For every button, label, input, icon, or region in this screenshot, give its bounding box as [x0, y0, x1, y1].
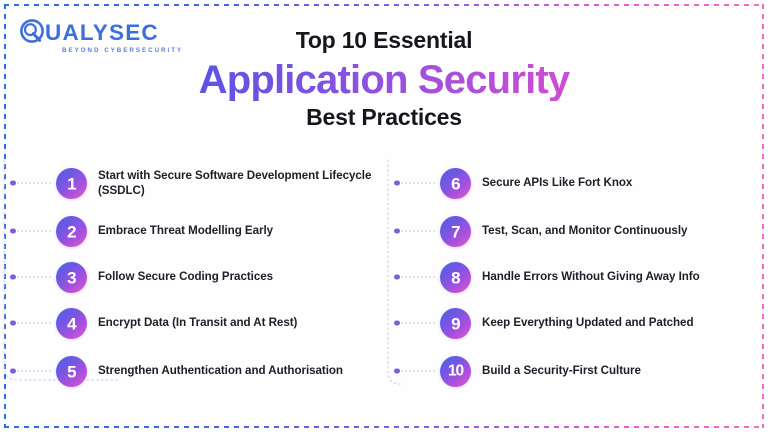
timeline-connector — [17, 323, 53, 324]
timeline-dot — [394, 274, 400, 280]
timeline-node — [394, 320, 436, 327]
step-number: 9 — [451, 315, 460, 332]
timeline-dot — [394, 368, 400, 374]
practices-list-left: 1 Start with Secure Software Development… — [56, 158, 376, 396]
step-number: 8 — [451, 269, 460, 286]
title-eyebrow: Top 10 Essential — [0, 27, 768, 54]
step-badge: 1 — [56, 168, 87, 199]
step-badge: 4 — [56, 308, 87, 339]
timeline-connector — [401, 183, 437, 184]
step-badge: 8 — [440, 262, 471, 293]
step-badge: 9 — [440, 308, 471, 339]
infographic-poster: UALYSEC BEYOND CYBERSECURITY Top 10 Esse… — [0, 0, 768, 432]
list-item[interactable]: 3 Follow Secure Coding Practices — [56, 254, 376, 300]
timeline-node — [10, 320, 52, 327]
practices-right-column: 6 Secure APIs Like Fort Knox 7 Test, Sca… — [384, 158, 768, 396]
timeline-node — [394, 274, 436, 281]
timeline-dot — [394, 320, 400, 326]
frame-top-edge — [4, 4, 764, 6]
timeline-connector — [17, 231, 53, 232]
list-item[interactable]: 9 Keep Everything Updated and Patched — [440, 300, 760, 346]
step-number: 5 — [67, 363, 76, 380]
list-item-label: Secure APIs Like Fort Knox — [482, 175, 632, 190]
list-item-label: Encrypt Data (In Transit and At Rest) — [98, 315, 297, 330]
step-badge: 2 — [56, 216, 87, 247]
timeline-connector — [401, 371, 437, 372]
timeline-connector — [17, 277, 53, 278]
step-number: 1 — [67, 175, 76, 192]
list-item-label: Handle Errors Without Giving Away Info — [482, 269, 700, 284]
list-item-label: Start with Secure Software Development L… — [98, 168, 376, 199]
list-item[interactable]: 2 Embrace Threat Modelling Early — [56, 208, 376, 254]
timeline-dot — [10, 320, 16, 326]
timeline-node — [394, 368, 436, 375]
timeline-connector — [17, 183, 53, 184]
step-badge: 6 — [440, 168, 471, 199]
timeline-node — [10, 274, 52, 281]
list-item-label: Embrace Threat Modelling Early — [98, 223, 273, 238]
timeline-connector — [401, 323, 437, 324]
step-badge: 7 — [440, 216, 471, 247]
list-item[interactable]: 4 Encrypt Data (In Transit and At Rest) — [56, 300, 376, 346]
practices-left-column: 1 Start with Secure Software Development… — [0, 158, 384, 396]
list-item-label: Test, Scan, and Monitor Continuously — [482, 223, 687, 238]
list-item[interactable]: 5 Strengthen Authentication and Authoris… — [56, 346, 376, 396]
page-title: Top 10 Essential Application Security Be… — [0, 27, 768, 131]
timeline-connector — [401, 231, 437, 232]
timeline-node — [10, 228, 52, 235]
title-subline: Best Practices — [0, 104, 768, 131]
list-item-label: Build a Security-First Culture — [482, 363, 641, 378]
timeline-dot — [10, 180, 16, 186]
list-item[interactable]: 10 Build a Security-First Culture — [440, 346, 760, 396]
list-item[interactable]: 8 Handle Errors Without Giving Away Info — [440, 254, 760, 300]
practices-columns: 1 Start with Secure Software Development… — [0, 158, 768, 396]
timeline-node — [394, 228, 436, 235]
timeline-dot — [10, 368, 16, 374]
title-gradient-line: Application Security — [0, 59, 768, 101]
timeline-dot — [10, 228, 16, 234]
practices-list-right: 6 Secure APIs Like Fort Knox 7 Test, Sca… — [440, 158, 760, 396]
timeline-dot — [394, 228, 400, 234]
step-number: 4 — [67, 315, 76, 332]
step-number: 7 — [451, 223, 460, 240]
timeline-node — [394, 180, 436, 187]
step-number: 6 — [451, 175, 460, 192]
step-number: 2 — [67, 223, 76, 240]
frame-bottom-edge — [4, 426, 764, 428]
timeline-node — [10, 368, 52, 375]
timeline-dot — [394, 180, 400, 186]
timeline-connector — [17, 371, 53, 372]
list-item[interactable]: 1 Start with Secure Software Development… — [56, 158, 376, 208]
step-number: 3 — [67, 269, 76, 286]
timeline-connector — [401, 277, 437, 278]
step-badge: 5 — [56, 356, 87, 387]
step-number: 10 — [448, 364, 463, 380]
timeline-node — [10, 180, 52, 187]
list-item[interactable]: 7 Test, Scan, and Monitor Continuously — [440, 208, 760, 254]
list-item-label: Strengthen Authentication and Authorisat… — [98, 363, 343, 378]
step-badge: 3 — [56, 262, 87, 293]
list-item[interactable]: 6 Secure APIs Like Fort Knox — [440, 158, 760, 208]
step-badge: 10 — [440, 356, 471, 387]
timeline-dot — [10, 274, 16, 280]
list-item-label: Follow Secure Coding Practices — [98, 269, 273, 284]
list-item-label: Keep Everything Updated and Patched — [482, 315, 694, 330]
